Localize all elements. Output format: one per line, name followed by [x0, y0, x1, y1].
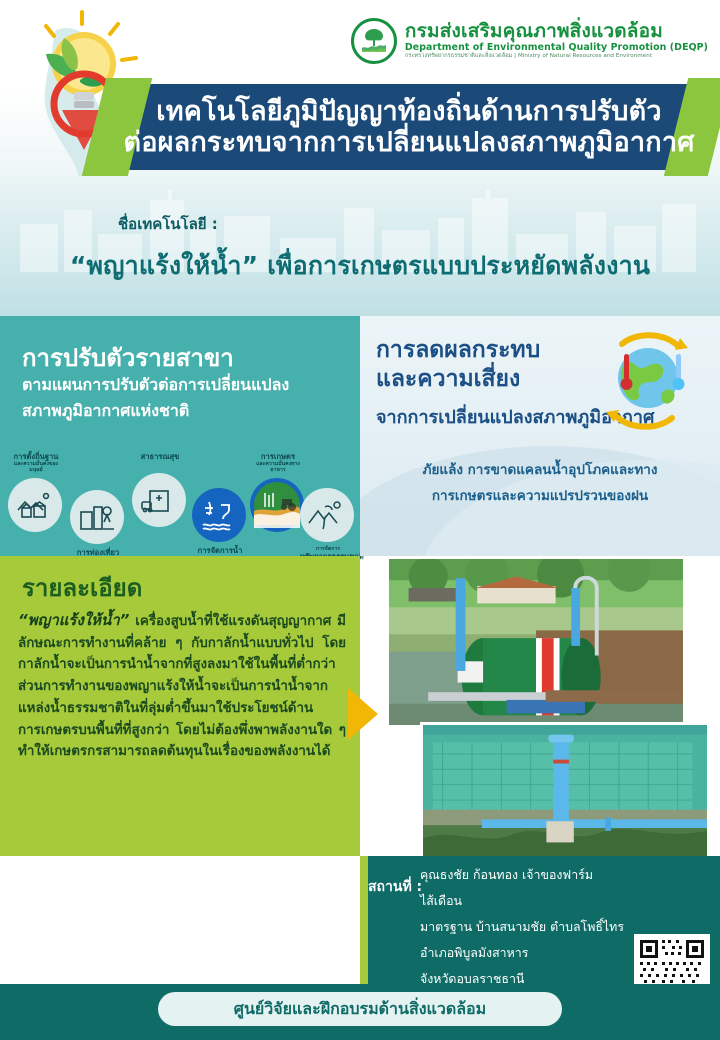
sector-icon-sublabel-4: และความมั่นคงทางอาหาร — [250, 461, 306, 473]
logo-text-block: กรมส่งเสริมคุณภาพสิ่งแวดล้อม Department … — [405, 22, 708, 61]
location-line-2: อำเภอพิบูลมังสาหาร — [420, 940, 630, 966]
technology-label: ชื่อเทคโนโลยี : — [118, 212, 218, 236]
poster-root: กรมส่งเสริมคุณภาพสิ่งแวดล้อม Department … — [0, 0, 720, 1040]
header: กรมส่งเสริมคุณภาพสิ่งแวดล้อม Department … — [0, 0, 720, 192]
deqp-logo: กรมส่งเสริมคุณภาพสิ่งแวดล้อม Department … — [351, 18, 708, 64]
water-management-icon — [192, 488, 246, 542]
sector-icon-sublabel-0: และความมั่นคงของมนุษย์ — [8, 461, 64, 473]
tourism-icon — [70, 490, 124, 544]
location-line-0: คุณธงชัย ก้อนทอง เจ้าของฟาร์มไส้เดือน — [420, 862, 630, 914]
main-title-ribbon: เทคโนโลยีภูมิปัญญาท้องถิ่นด้านการปรับตัว… — [120, 84, 698, 170]
location-line-1: มาตรฐาน บ้านสนามชัย ตำบลโพธิ์ไทร — [420, 914, 630, 940]
sector-icon-label-0: การตั้งถิ่นฐาน — [8, 452, 64, 461]
sector-icon-public-health[interactable]: สาธารณสุข — [132, 452, 188, 527]
org-name-thai: กรมส่งเสริมคุณภาพสิ่งแวดล้อม — [405, 22, 708, 42]
location-accent-stripe — [360, 856, 368, 984]
main-title-line1: เทคโนโลยีภูมิปัญญาท้องถิ่นด้านการปรับตัว — [156, 96, 661, 127]
mitigation-heading-line2: และความเสี่ยง — [376, 365, 596, 394]
photo-siphon-pump-barrel — [386, 556, 686, 728]
sector-subheading-line1: ตามแผนการปรับตัวต่อการเปลี่ยนแปลง — [22, 372, 342, 398]
sector-subheading-line2: สภาพภูมิอากาศแห่งชาติ — [22, 398, 342, 424]
agriculture-icon — [250, 478, 304, 532]
sector-icon-label-2: สาธารณสุข — [132, 452, 188, 461]
location-label: สถานที่ : — [368, 876, 422, 898]
mitigation-risk-text: ภัยแล้ง การขาดแคลนน้ำอุปโภคและทาง การเกษ… — [370, 458, 710, 509]
mitigation-heading-line1: การลดผลกระทบ — [376, 336, 596, 365]
footer-text: ศูนย์วิจัยและฝึกอบรมด้านสิ่งแวดล้อม — [234, 997, 486, 1022]
details-body-text: เครื่องสูบน้ำที่ใช้แรงดันสุญญากาศ มีลักษ… — [18, 614, 346, 759]
sector-icon-label-3: การจัดการน้ำ — [192, 546, 248, 555]
sector-panel-subheading: ตามแผนการปรับตัวต่อการเปลี่ยนแปลง สภาพภู… — [22, 372, 342, 423]
left-white-strip — [0, 856, 360, 984]
sector-icon-tourism[interactable]: การท่องเที่ยว — [70, 490, 126, 557]
natural-resources-icon — [300, 488, 354, 542]
technology-name-band: ชื่อเทคโนโลยี : “พญาแร้งให้น้ำ” เพื่อการ… — [0, 176, 720, 316]
globe-thermometer-icon — [588, 328, 704, 432]
main-title-line2: ต่อผลกระทบจากการเปลี่ยนแปลงสภาพภูมิอากาศ — [123, 127, 694, 158]
risk-line2: การเกษตรและความแปรปรวนของฝน — [370, 484, 710, 510]
sector-icon-label-4: การเกษตร — [250, 452, 306, 461]
org-ministry-line: กระทรวงทรัพยากรธรรมชาติและสิ่งแวดล้อม | … — [405, 54, 708, 60]
location-lines: คุณธงชัย ก้อนทอง เจ้าของฟาร์มไส้เดือน มา… — [420, 862, 630, 992]
tree-water-circle-logo-icon — [351, 18, 397, 64]
public-health-icon — [132, 473, 186, 527]
footer-pill: ศูนย์วิจัยและฝึกอบรมด้านสิ่งแวดล้อม — [158, 992, 562, 1026]
mitigation-heading: การลดผลกระทบ และความเสี่ยง — [376, 336, 596, 394]
sector-icon-settlement[interactable]: การตั้งถิ่นฐาน และความมั่นคงของมนุษย์ — [8, 452, 64, 532]
yellow-arrow-icon — [348, 688, 382, 740]
settlement-icon — [8, 478, 62, 532]
details-body: “พญาแร้งให้น้ำ” เครื่องสูบน้ำที่ใช้แรงดั… — [18, 608, 346, 763]
details-heading: รายละเอียด — [22, 568, 142, 607]
org-name-english: Department of Environmental Quality Prom… — [405, 43, 708, 53]
mitigation-panel: การลดผลกระทบ และความเสี่ยง จากการเปลี่ยน… — [360, 316, 720, 556]
technology-name: “พญาแร้งให้น้ำ” เพื่อการเกษตรแบบประหยัดพ… — [0, 246, 720, 286]
details-panel: รายละเอียด “พญาแร้งให้น้ำ” เครื่องสูบน้ำ… — [0, 556, 360, 856]
sector-icon-agriculture[interactable]: การเกษตร และความมั่นคงทางอาหาร — [250, 452, 306, 532]
details-lead-term: “พญาแร้งให้น้ำ” — [18, 611, 129, 629]
risk-line1: ภัยแล้ง การขาดแคลนน้ำอุปโภคและทาง — [370, 458, 710, 484]
sector-icon-water-management[interactable]: การจัดการน้ำ — [192, 488, 248, 555]
sector-icon-natural-resources[interactable]: การจัดการ ทรัพยากรธรรมชาติ — [300, 488, 356, 561]
sector-icon-row: การตั้งถิ่นฐาน และความมั่นคงของมนุษย์ กา… — [0, 452, 360, 556]
